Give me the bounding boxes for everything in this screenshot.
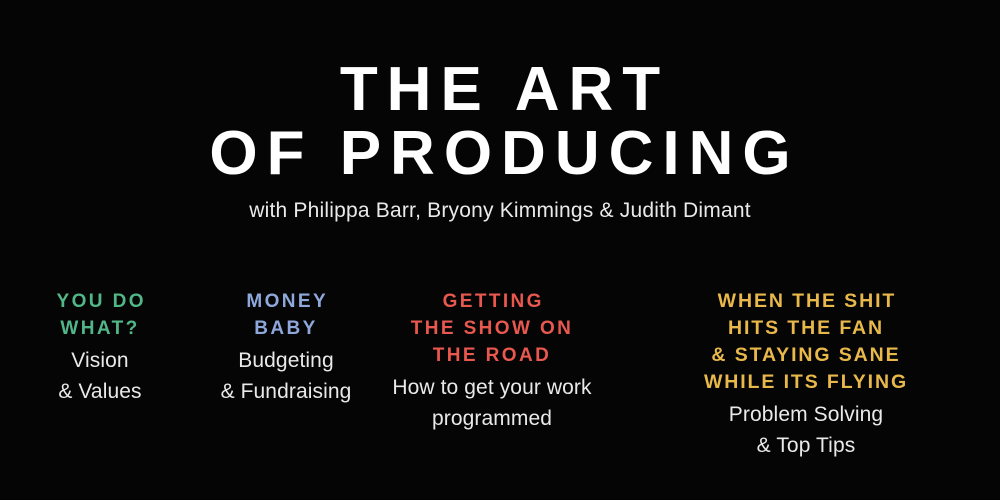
title-block: THE ART OF PRODUCING — [0, 58, 1000, 186]
topic-column-when-the-shit-hits-the-fan: WHEN THE SHIT HITS THE FAN & STAYING SAN… — [612, 288, 1000, 461]
topic-column-you-do-what: YOU DO WHAT? Vision & Values — [0, 288, 200, 407]
topic-description-money-baby: Budgeting & Fundraising — [206, 345, 366, 407]
topic-description-when-the-shit-hits-the-fan: Problem Solving & Top Tips — [618, 399, 994, 461]
topic-column-getting-the-show-on-the-road: GETTING THE SHOW ON THE ROAD How to get … — [372, 288, 612, 434]
topic-heading-you-do-what: YOU DO WHAT? — [6, 288, 194, 342]
presentation-slide: THE ART OF PRODUCING with Philippa Barr,… — [0, 0, 1000, 500]
subtitle-presenters: with Philippa Barr, Bryony Kimmings & Ju… — [0, 198, 1000, 224]
topic-columns: YOU DO WHAT? Vision & Values MONEY BABY … — [0, 288, 1000, 500]
topic-description-you-do-what: Vision & Values — [6, 345, 194, 407]
topic-heading-when-the-shit-hits-the-fan: WHEN THE SHIT HITS THE FAN & STAYING SAN… — [618, 288, 994, 396]
title-line-1: THE ART — [0, 58, 1000, 122]
topic-heading-getting-the-show-on-the-road: GETTING THE SHOW ON THE ROAD — [378, 288, 606, 369]
topic-description-getting-the-show-on-the-road: How to get your work programmed — [378, 372, 606, 434]
topic-column-money-baby: MONEY BABY Budgeting & Fundraising — [200, 288, 372, 407]
topic-heading-money-baby: MONEY BABY — [206, 288, 366, 342]
title-line-2: OF PRODUCING — [0, 122, 1000, 186]
